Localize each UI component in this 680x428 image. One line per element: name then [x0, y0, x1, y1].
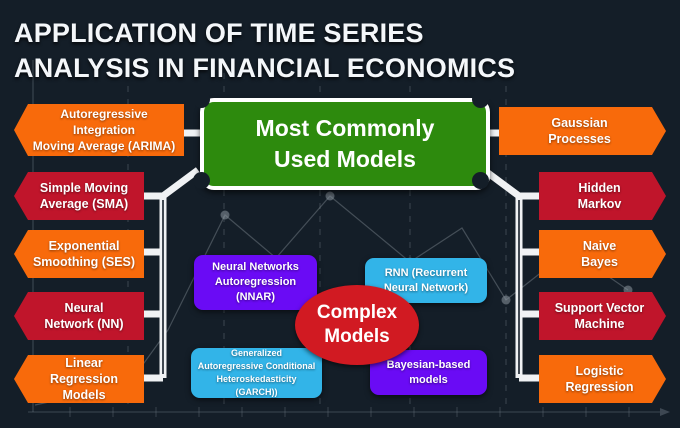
node-naive-bayes[interactable]: Naive Bayes	[539, 230, 666, 278]
hub-label: Most Commonly Used Models	[256, 113, 435, 175]
node-garch-line-1: Generalized	[231, 348, 282, 358]
node-gaussian-processes-label: Gaussian Processes	[499, 115, 666, 147]
hub-notch-top-right	[472, 91, 489, 108]
node-lrm-line-2: Models	[62, 388, 105, 402]
node-arima-line-1: Autoregressive Integration	[60, 107, 147, 137]
page-title-line-2: ANALYSIS IN FINANCIAL ECONOMICS	[14, 51, 634, 86]
page-title: APPLICATION OF TIME SERIES ANALYSIS IN F…	[14, 16, 634, 86]
node-nnar-line-3: (NNAR)	[236, 291, 275, 303]
ellipse-complex-models[interactable]: Complex Models	[295, 285, 419, 365]
node-arima-line-2: Moving Average (ARIMA)	[33, 139, 175, 153]
node-support-vector-machine[interactable]: Support Vector Machine	[539, 292, 666, 340]
node-naive-bayes-label: Naive Bayes	[539, 238, 666, 270]
node-linear-regression-models[interactable]: Linear Regression Models	[14, 355, 144, 403]
node-nn-line-2: Network (NN)	[44, 317, 123, 331]
node-nb-line-1: Naive	[583, 239, 616, 253]
node-garch-label: Generalized Autoregressive Conditional H…	[191, 347, 322, 399]
node-bayesian-based-models-label: Bayesian-based models	[370, 358, 487, 388]
ellipse-label: Complex Models	[317, 301, 397, 349]
hub-notch-bottom-right	[472, 172, 489, 189]
node-ses-line-2: Smoothing (SES)	[33, 255, 135, 269]
node-rnn-line-1: RNN (Recurrent	[385, 267, 468, 279]
node-sma-line-2: Average (SMA)	[40, 197, 128, 211]
node-sma-label: Simple Moving Average (SMA)	[14, 180, 144, 212]
node-gaussian-processes[interactable]: Gaussian Processes	[499, 107, 666, 155]
node-hmm-line-1: Hidden	[578, 181, 620, 195]
node-garch[interactable]: Generalized Autoregressive Conditional H…	[191, 348, 322, 398]
node-hidden-markov-label: Hidden Markov	[539, 180, 666, 212]
node-gaussian-line-2: Processes	[548, 132, 611, 146]
node-gaussian-line-1: Gaussian	[551, 116, 607, 130]
node-logreg-line-1: Logistic	[576, 364, 624, 378]
infographic-canvas: APPLICATION OF TIME SERIES ANALYSIS IN F…	[0, 0, 680, 428]
ellipse-line-1: Complex	[317, 302, 397, 323]
node-bayesian-line-1: Bayesian-based	[387, 359, 471, 371]
node-svm-line-2: Machine	[574, 317, 624, 331]
hub-label-line-1: Most Commonly	[256, 115, 435, 141]
node-sma[interactable]: Simple Moving Average (SMA)	[14, 172, 144, 220]
node-logreg-line-2: Regression	[565, 380, 633, 394]
hub-label-line-2: Used Models	[274, 146, 416, 172]
node-nnar-line-1: Neural Networks	[212, 261, 299, 273]
node-arima[interactable]: Autoregressive Integration Moving Averag…	[14, 104, 184, 156]
node-sma-line-1: Simple Moving	[40, 181, 128, 195]
node-arima-label: Autoregressive Integration Moving Averag…	[14, 106, 184, 154]
node-svm-line-1: Support Vector	[555, 301, 645, 315]
hub-most-commonly-used-models[interactable]: Most Commonly Used Models	[200, 98, 490, 190]
node-garch-line-3: Heteroskedasticity (GARCH))	[216, 374, 296, 397]
node-nn-line-1: Neural	[65, 301, 104, 315]
node-support-vector-machine-label: Support Vector Machine	[539, 300, 666, 332]
node-hidden-markov[interactable]: Hidden Markov	[539, 172, 666, 220]
node-garch-line-2: Autoregressive Conditional	[198, 361, 316, 371]
node-ses-label: Exponential Smoothing (SES)	[14, 238, 144, 270]
page-title-line-1: APPLICATION OF TIME SERIES	[14, 18, 424, 48]
hub-notch-bottom-left	[193, 172, 210, 189]
node-ses-line-1: Exponential	[49, 239, 120, 253]
node-logistic-regression-label: Logistic Regression	[539, 363, 666, 395]
node-nnar-label: Neural Networks Autoregression (NNAR)	[194, 260, 317, 305]
node-nn[interactable]: Neural Network (NN)	[14, 292, 144, 340]
hub-notch-top-left	[193, 91, 210, 108]
ellipse-line-2: Models	[324, 326, 389, 347]
node-nn-label: Neural Network (NN)	[14, 300, 144, 332]
node-bayesian-line-2: models	[409, 374, 448, 386]
node-hmm-line-2: Markov	[578, 197, 622, 211]
node-lrm-line-1: Linear Regression	[50, 356, 118, 386]
node-nnar[interactable]: Neural Networks Autoregression (NNAR)	[194, 255, 317, 310]
node-ses[interactable]: Exponential Smoothing (SES)	[14, 230, 144, 278]
node-nnar-line-2: Autoregression	[215, 276, 296, 288]
node-nb-line-2: Bayes	[581, 255, 618, 269]
node-rnn-line-2: Neural Network)	[384, 282, 468, 294]
node-logistic-regression[interactable]: Logistic Regression	[539, 355, 666, 403]
node-linear-regression-models-label: Linear Regression Models	[14, 355, 144, 403]
